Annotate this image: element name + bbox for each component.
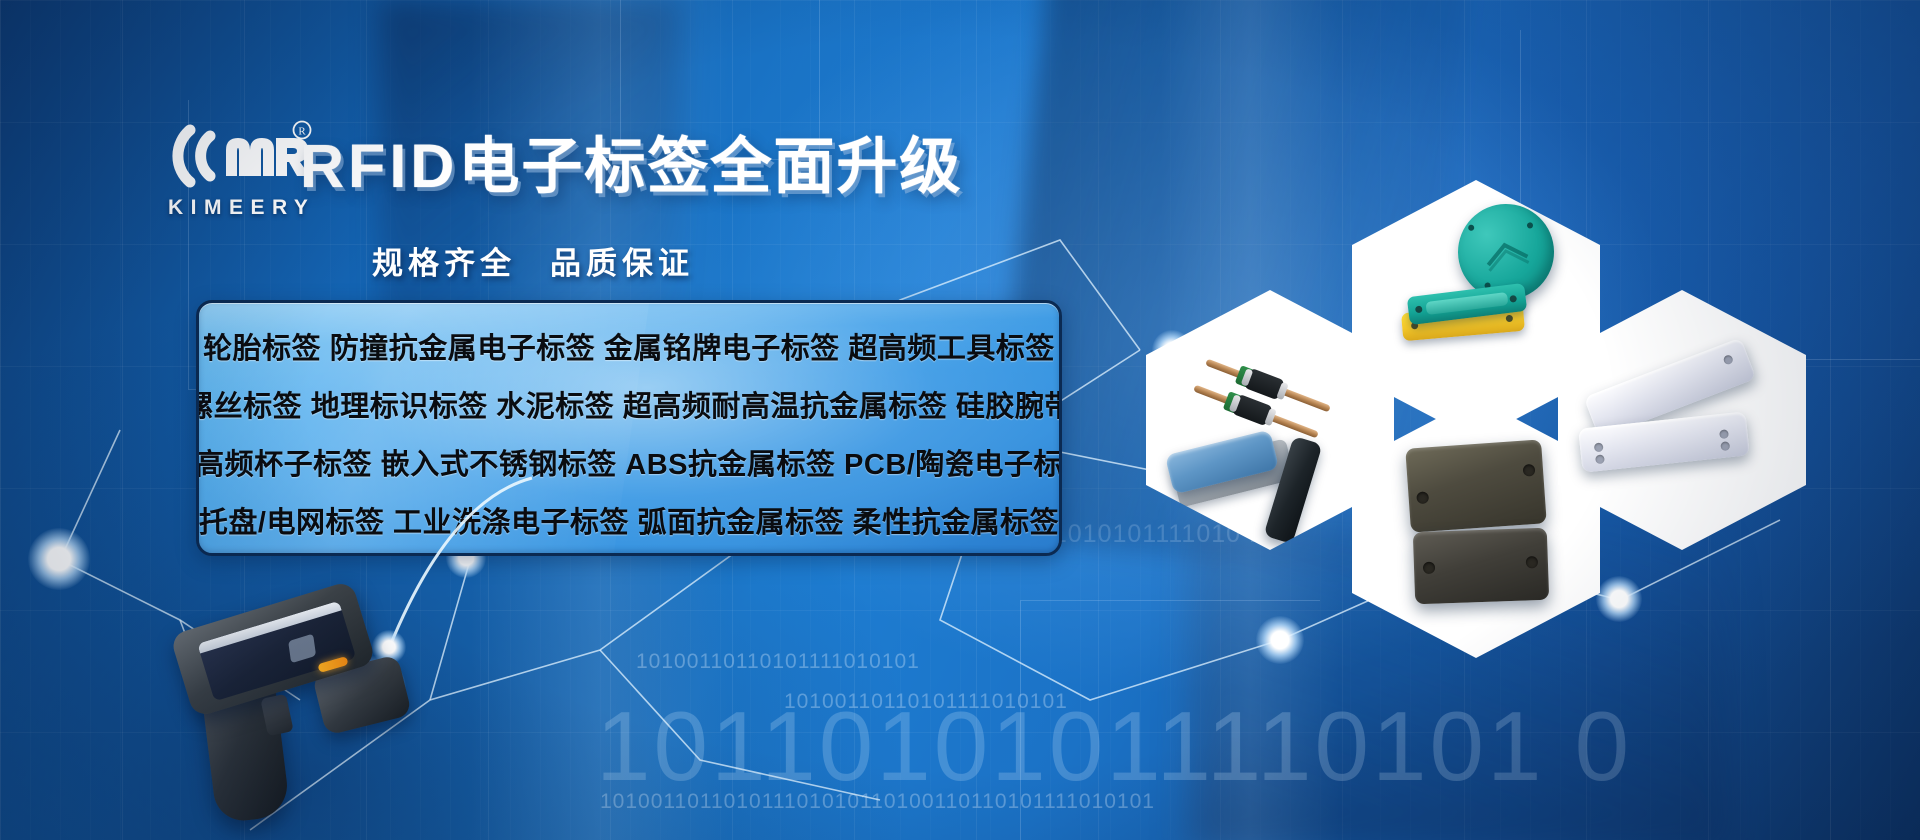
tag-row-text: 螺丝标签 地理标识标签 水泥标签 超高频耐高温抗金属标签 硅胶腕带 xyxy=(196,383,1062,425)
kimeery-signal-mark-icon: R xyxy=(168,120,318,190)
glass-tube-pin-tag xyxy=(1193,385,1319,439)
dark-flat-tag xyxy=(1413,528,1549,605)
rfid-product-banner: 10100110110101111010101 1010011011010111… xyxy=(0,0,1920,840)
network-node-glow-6 xyxy=(28,528,90,590)
dark-rugged-tag xyxy=(1405,439,1547,532)
subtitle-left: 规格齐全 xyxy=(372,246,516,281)
tag-row: 螺丝标签 地理标识标签 水泥标签 超高频耐高温抗金属标签 硅胶腕带 xyxy=(199,375,1059,433)
page-title: RFID电子标签全面升级 xyxy=(300,116,962,205)
tag-row-text: 轮胎标签 防撞抗金属电子标签 金属铭牌电子标签 超高频工具标签 xyxy=(203,325,1055,367)
page-title-latin: RFID xyxy=(300,132,458,200)
tag-row: 轮胎标签 防撞抗金属电子标签 金属铭牌电子标签 超高频工具标签 xyxy=(199,317,1059,375)
page-subtitle: 规格齐全品质保证 xyxy=(372,238,694,283)
page-title-cjk: 电子标签全面升级 xyxy=(458,132,962,200)
handheld-rfid-reader[interactable] xyxy=(168,600,428,840)
subtitle-right: 品质保证 xyxy=(550,246,694,281)
product-hexagon-cluster xyxy=(1140,180,1840,650)
chevron-emboss-icon xyxy=(1481,234,1532,273)
